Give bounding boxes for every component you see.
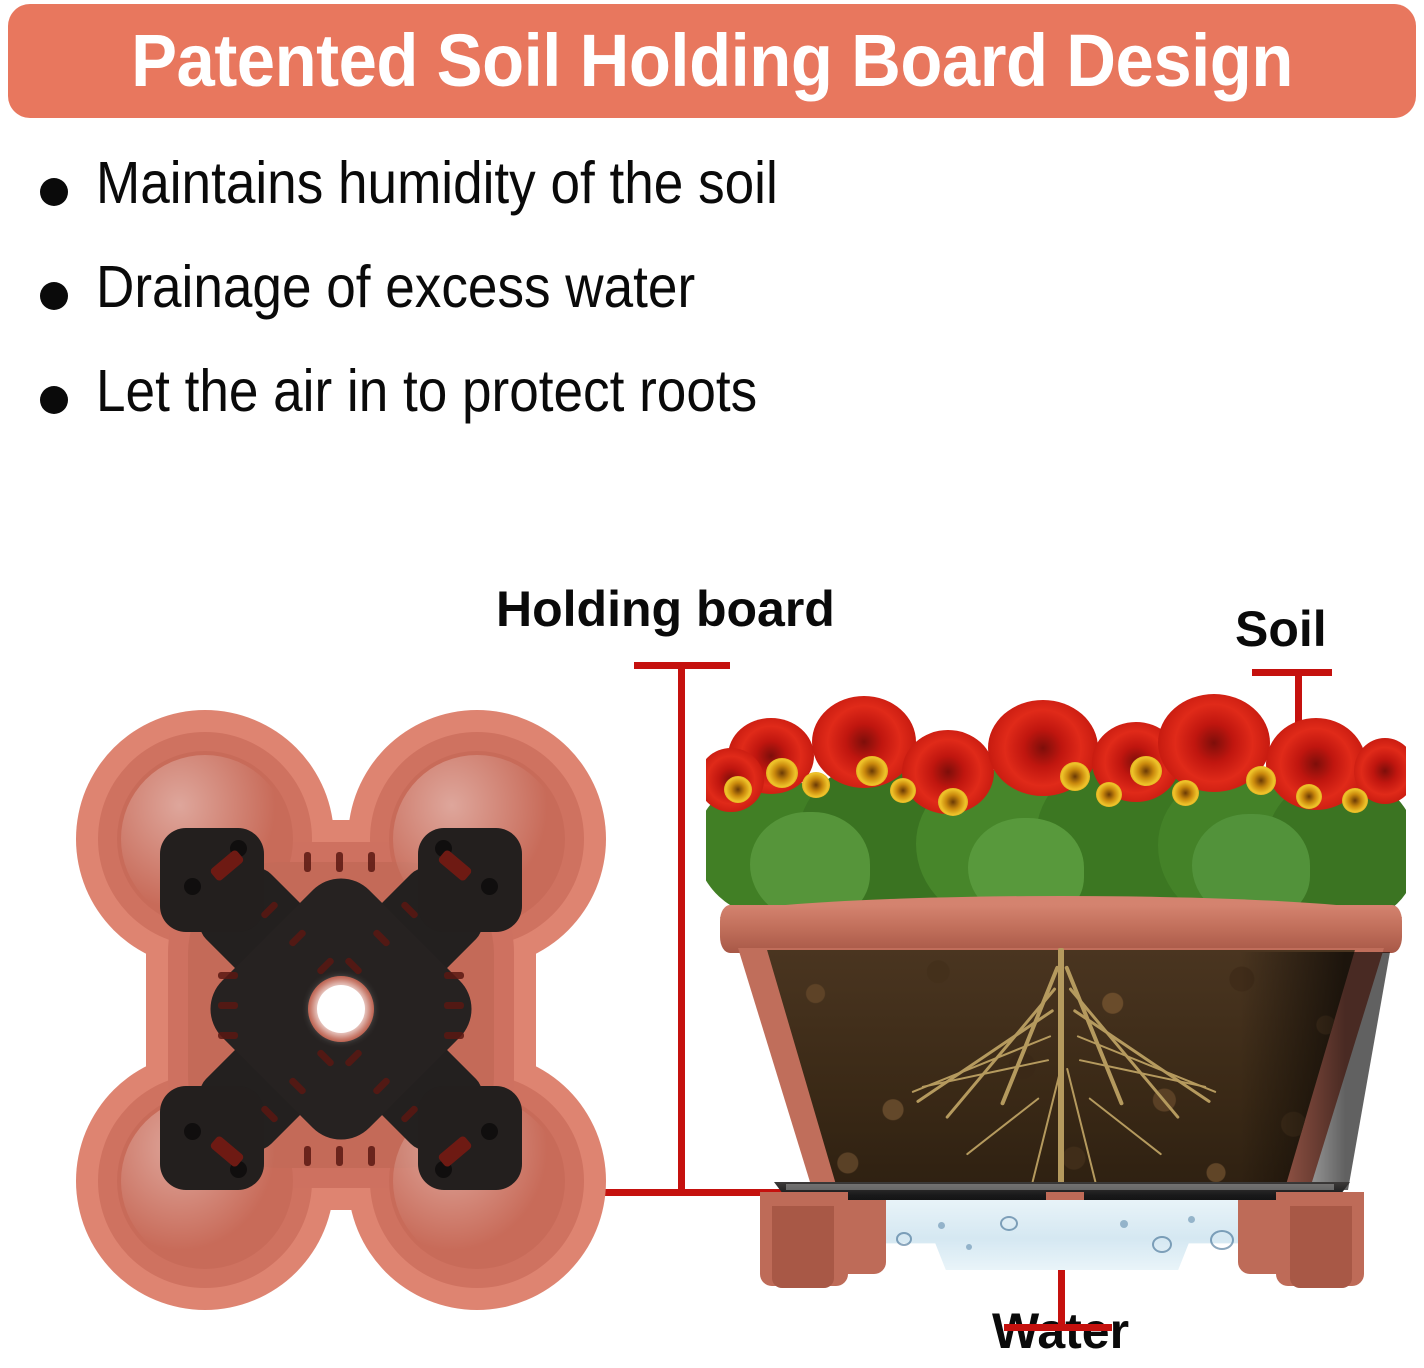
- bullet-dot-icon: [40, 178, 68, 206]
- planter-cross-section: [700, 560, 1412, 1300]
- plant-roots: [738, 948, 1384, 1194]
- feature-text: Let the air in to protect roots: [96, 358, 757, 424]
- list-item: Let the air in to protect roots: [40, 358, 1140, 462]
- feature-text: Drainage of excess water: [96, 254, 695, 320]
- bullet-dot-icon: [40, 282, 68, 310]
- list-item: Drainage of excess water: [40, 254, 1140, 358]
- pot-rim: [720, 905, 1402, 953]
- list-item: Maintains humidity of the soil: [40, 150, 1140, 254]
- feature-list: Maintains humidity of the soil Drainage …: [40, 150, 1140, 462]
- quatrefoil-planter-top-view: [36, 710, 646, 1310]
- drainage-hole: [317, 985, 365, 1033]
- soil-holding-board: [154, 822, 528, 1196]
- bullet-dot-icon: [40, 386, 68, 414]
- page-title: Patented Soil Holding Board Design: [57, 4, 1366, 118]
- product-diagram: [0, 560, 1424, 1368]
- feature-text: Maintains humidity of the soil: [96, 150, 778, 216]
- holding-board-gloss: [786, 1184, 1334, 1190]
